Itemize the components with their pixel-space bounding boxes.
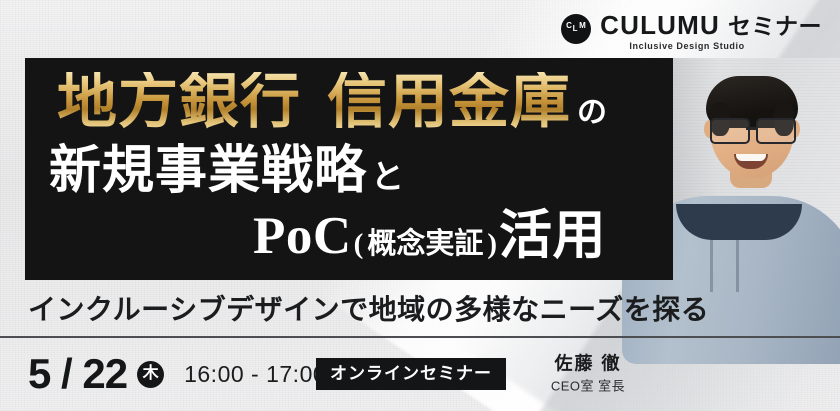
title-line-3: PoC ( 概念実証 ) 活用 xyxy=(253,210,606,263)
event-time: 16:00 - 17:00 xyxy=(184,363,326,386)
title-line-1: 地方銀行 信用金庫 の xyxy=(57,72,607,132)
title-gainen-jissho: 概念実証 xyxy=(365,230,485,259)
title-line2-particle: と xyxy=(367,162,404,195)
speaker-role: CEO室 室長 xyxy=(528,378,648,395)
logo-letter-c: C xyxy=(566,22,572,30)
logo-letter-m: M xyxy=(579,22,586,30)
speaker-info: 佐藤 徹 CEO室 室長 xyxy=(528,353,648,394)
title-paren-close: ) xyxy=(485,230,499,259)
logo-letter-l: L xyxy=(573,25,578,33)
logo-seminar-label: セミナー xyxy=(728,15,822,38)
seminar-banner: C L M CULUMU セミナー Inclusive Design Studi… xyxy=(0,0,840,411)
title-shinki-jigyo-senryaku: 新規事業戦略 xyxy=(49,146,367,198)
logo-main-row: CULUMU セミナー xyxy=(600,12,822,38)
title-shinyo-kinko: 信用金庫 xyxy=(327,72,571,132)
culumu-logo[interactable]: C L M CULUMU セミナー Inclusive Design Studi… xyxy=(561,12,822,51)
logo-tagline: Inclusive Design Studio xyxy=(629,41,744,51)
glasses-lens-right xyxy=(756,118,796,144)
glasses-lens-left xyxy=(710,118,750,144)
event-weekday-badge: 木 xyxy=(137,361,164,388)
glasses-bridge xyxy=(746,127,758,130)
event-datetime: 5 / 22 木 16:00 - 17:00 xyxy=(28,353,326,395)
title-katsuyo: 活用 xyxy=(499,210,606,263)
speaker-glasses-icon xyxy=(704,118,802,142)
speaker-name: 佐藤 徹 xyxy=(528,353,648,375)
footer-bar: 5 / 22 木 16:00 - 17:00 オンラインセミナー 佐藤 徹 CE… xyxy=(0,337,840,411)
culumu-logo-mark-icon: C L M xyxy=(561,14,591,44)
logo-wordmark: CULUMU xyxy=(600,12,720,38)
title-paren-open: ( xyxy=(352,230,366,259)
title-line-2: 新規事業戦略 と xyxy=(49,146,404,198)
title-chiho-ginko: 地方銀行 xyxy=(57,72,301,132)
event-format-badge: オンラインセミナー xyxy=(316,358,506,390)
title-line1-particle: の xyxy=(571,98,607,128)
logo-text-group: CULUMU セミナー Inclusive Design Studio xyxy=(600,12,822,51)
title-poc: PoC xyxy=(253,210,352,263)
title-panel: 地方銀行 信用金庫 の 新規事業戦略 と PoC ( 概念実証 ) 活用 xyxy=(25,58,673,280)
event-date: 5 / 22 xyxy=(28,353,127,395)
subtitle: インクルーシブデザインで地域の多様なニーズを探る xyxy=(28,288,709,328)
